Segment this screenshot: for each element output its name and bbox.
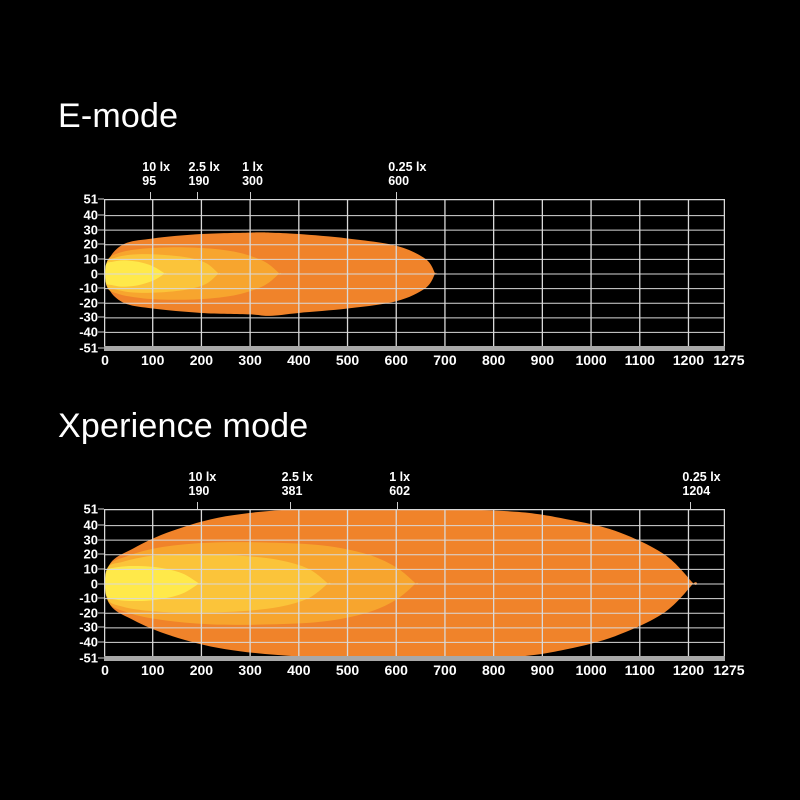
y-axis-tick-label: -40	[79, 635, 98, 648]
y-axis-tick-label: -10	[79, 592, 98, 605]
y-axis-tick-mark	[98, 331, 104, 332]
x-axis-tick-label: 100	[141, 662, 164, 678]
y-axis-tick-label: 10	[84, 252, 98, 265]
y-axis-labels: 51403020100-10-20-30-40-51	[60, 199, 98, 348]
lux-marker-tick	[690, 502, 691, 509]
x-axis-labels: 0100200300400500600700800900100011001200…	[0, 662, 800, 682]
y-axis-tick-mark	[98, 583, 104, 584]
beam-pattern-svg	[104, 199, 725, 348]
y-axis-tick-label: 30	[84, 223, 98, 236]
y-axis-tick-label: 40	[84, 209, 98, 222]
y-axis-tick-mark	[98, 317, 104, 318]
y-axis-tick-mark	[98, 348, 104, 349]
x-axis-tick-label: 700	[433, 662, 456, 678]
lux-value: 0.25 lx	[682, 470, 720, 484]
x-axis-tick-label: 800	[482, 352, 505, 368]
lux-marker-label: 10 lx95	[142, 160, 170, 188]
y-axis-tick-mark	[98, 199, 104, 200]
lux-distance: 190	[189, 174, 220, 188]
lux-value: 1 lx	[389, 470, 410, 484]
x-axis-tick-label: 300	[238, 352, 261, 368]
x-axis-baseline	[104, 656, 725, 661]
y-axis-tick-label: 51	[84, 503, 98, 516]
y-axis-tick-label: 20	[84, 238, 98, 251]
plot-wrapper: 10 lx1902.5 lx3811 lx6020.25 lx1204 5140…	[0, 406, 800, 696]
y-axis-tick-label: -20	[79, 296, 98, 309]
y-axis-tick-mark	[98, 302, 104, 303]
x-axis-tick-label: 100	[141, 352, 164, 368]
plot-area	[104, 199, 725, 348]
lux-distance: 1204	[682, 484, 720, 498]
lux-marker-label: 0.25 lx1204	[682, 470, 720, 498]
y-axis-tick-mark	[98, 598, 104, 599]
x-axis-tick-label: 900	[531, 662, 554, 678]
y-axis-tick-mark	[98, 244, 104, 245]
lux-marker-label: 0.25 lx600	[388, 160, 426, 188]
x-axis-tick-label: 400	[287, 662, 310, 678]
lux-value: 10 lx	[189, 470, 217, 484]
lux-marker-label: 1 lx300	[242, 160, 263, 188]
y-axis-tick-label: 30	[84, 533, 98, 546]
y-axis-tick-label: -40	[79, 325, 98, 338]
y-axis-tick-mark	[98, 539, 104, 540]
lux-value: 10 lx	[142, 160, 170, 174]
x-axis-tick-label: 700	[433, 352, 456, 368]
y-axis-tick-mark	[98, 229, 104, 230]
lux-distance: 381	[282, 484, 313, 498]
y-axis-tick-mark	[98, 612, 104, 613]
y-axis-tick-mark	[98, 627, 104, 628]
lux-value: 1 lx	[242, 160, 263, 174]
x-axis-tick-label: 500	[336, 352, 359, 368]
y-axis-tick-label: 40	[84, 519, 98, 532]
lux-marker-label: 10 lx190	[189, 470, 217, 498]
y-axis-tick-label: -10	[79, 282, 98, 295]
y-axis-tick-mark	[98, 658, 104, 659]
lux-distance: 602	[389, 484, 410, 498]
y-axis-tick-label: 51	[84, 193, 98, 206]
x-axis-tick-label: 300	[238, 662, 261, 678]
x-axis-tick-label: 800	[482, 662, 505, 678]
chart-block-xperience-mode: Xperience mode 10 lx1902.5 lx3811 lx6020…	[0, 406, 800, 696]
y-axis-tick-mark	[98, 258, 104, 259]
chart-block-e-mode: E-mode 10 lx952.5 lx1901 lx3000.25 lx600…	[0, 96, 800, 386]
lux-marker-tick	[250, 192, 251, 199]
y-axis-tick-mark	[98, 509, 104, 510]
x-axis-tick-label: 1200	[673, 352, 704, 368]
x-axis-tick-label: 1000	[575, 662, 606, 678]
lux-marker-label: 2.5 lx381	[282, 470, 313, 498]
y-axis-labels: 51403020100-10-20-30-40-51	[60, 509, 98, 658]
y-axis-tick-mark	[98, 641, 104, 642]
x-axis-tick-label: 200	[190, 352, 213, 368]
lux-distance: 600	[388, 174, 426, 188]
y-axis-tick-mark	[98, 215, 104, 216]
lux-distance: 300	[242, 174, 263, 188]
lux-marker-labels: 10 lx1902.5 lx3811 lx6020.25 lx1204	[0, 470, 800, 508]
lux-value: 2.5 lx	[282, 470, 313, 484]
x-axis-tick-label: 600	[385, 662, 408, 678]
lux-marker-tick	[197, 192, 198, 199]
y-axis-tick-mark	[98, 554, 104, 555]
lux-marker-tick	[397, 502, 398, 509]
x-axis-tick-label: 0	[101, 352, 109, 368]
lux-marker-labels: 10 lx952.5 lx1901 lx3000.25 lx600	[0, 160, 800, 198]
y-axis-tick-label: 20	[84, 548, 98, 561]
lux-marker-label: 1 lx602	[389, 470, 410, 498]
y-axis-tick-label: -30	[79, 621, 98, 634]
x-axis-tick-label: 1000	[575, 352, 606, 368]
lux-value: 0.25 lx	[388, 160, 426, 174]
lux-marker-label: 2.5 lx190	[189, 160, 220, 188]
x-axis-tick-label: 1100	[625, 662, 655, 678]
y-axis-tick-label: 10	[84, 562, 98, 575]
lux-distance: 95	[142, 174, 170, 188]
lux-marker-tick	[197, 502, 198, 509]
y-axis-tick-label: 0	[91, 577, 98, 590]
x-axis-tick-label: 1275	[713, 352, 744, 368]
x-axis-baseline	[104, 346, 725, 351]
x-axis-tick-label: 0	[101, 662, 109, 678]
x-axis-tick-label: 900	[531, 352, 554, 368]
lux-value: 2.5 lx	[189, 160, 220, 174]
y-axis-tick-mark	[98, 288, 104, 289]
x-axis-tick-label: 1275	[713, 662, 744, 678]
lux-marker-tick	[396, 192, 397, 199]
y-axis-tick-label: -20	[79, 606, 98, 619]
x-axis-tick-label: 600	[385, 352, 408, 368]
plot-area	[104, 509, 725, 658]
x-axis-tick-label: 1100	[625, 352, 655, 368]
x-axis-labels: 0100200300400500600700800900100011001200…	[0, 352, 800, 372]
y-axis-tick-label: 0	[91, 267, 98, 280]
x-axis-tick-label: 1200	[673, 662, 704, 678]
y-axis-tick-mark	[98, 525, 104, 526]
x-axis-tick-label: 500	[336, 662, 359, 678]
beam-pattern-figure: E-mode 10 lx952.5 lx1901 lx3000.25 lx600…	[0, 0, 800, 800]
y-axis-tick-label: -30	[79, 311, 98, 324]
lux-marker-tick	[290, 502, 291, 509]
y-axis-tick-mark	[98, 568, 104, 569]
plot-wrapper: 10 lx952.5 lx1901 lx3000.25 lx600 514030…	[0, 96, 800, 386]
lux-marker-tick	[150, 192, 151, 199]
lux-distance: 190	[189, 484, 217, 498]
x-axis-tick-label: 200	[190, 662, 213, 678]
beam-pattern-svg	[104, 509, 725, 658]
x-axis-tick-label: 400	[287, 352, 310, 368]
y-axis-tick-mark	[98, 273, 104, 274]
